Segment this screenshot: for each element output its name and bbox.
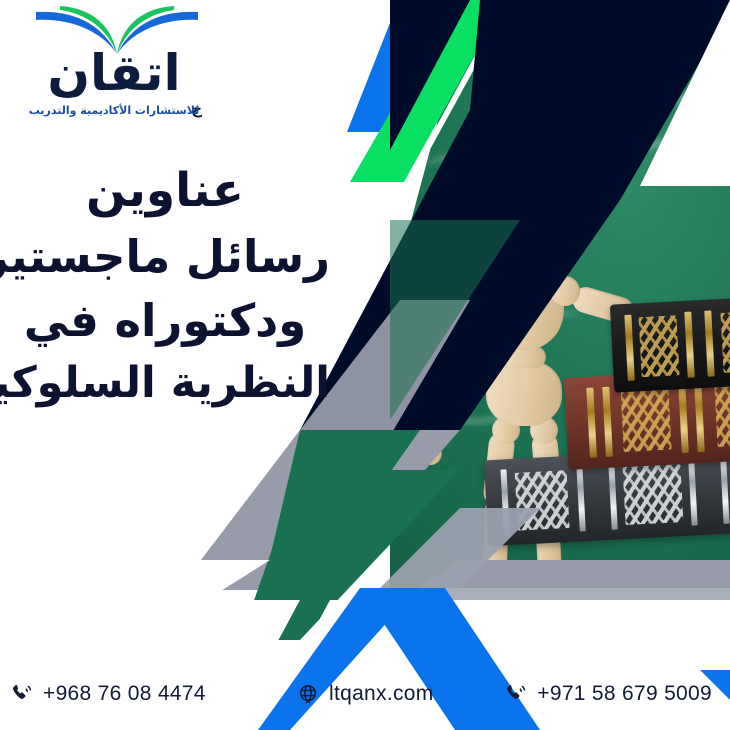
- contact-phone-left[interactable]: +968 76 08 4474: [10, 682, 206, 706]
- contact-website[interactable]: ltqanx.com: [296, 682, 434, 706]
- gray-diamond-left: [178, 430, 460, 590]
- globe-icon: [296, 682, 320, 706]
- contact-phone-left-text: +968 76 08 4474: [43, 682, 206, 706]
- headline-line-4: النظرية السلوكية: [0, 353, 330, 414]
- logo-wordmark: اتقان: [14, 48, 214, 98]
- contact-phone-right-text: +971 58 679 5009: [537, 682, 712, 706]
- phone-ring-icon: [504, 682, 528, 706]
- brand-logo[interactable]: اتقان ح للاستشارات الأكاديمية والتدريب: [14, 4, 214, 130]
- white-left-block-2: [0, 400, 180, 680]
- headline-line-1: عناوين: [0, 158, 330, 225]
- logo-subtitle: للاستشارات الأكاديمية والتدريب: [14, 104, 214, 117]
- headline-block: عناوين رسائل ماجستير ودكتوراه في النظرية…: [0, 158, 330, 414]
- contact-footer: +968 76 08 4474 ltqanx.com: [0, 668, 730, 730]
- headline-line-2: رسائل ماجستير: [0, 225, 330, 289]
- headline-line-3: ودكتوراه في: [0, 289, 330, 353]
- contact-website-text: ltqanx.com: [329, 682, 434, 706]
- phone-ring-icon: [10, 682, 34, 706]
- poster-canvas: اتقان ح للاستشارات الأكاديمية والتدريب ع…: [0, 0, 730, 730]
- navy-diagonal-band: [300, 0, 730, 430]
- contact-phone-right[interactable]: +971 58 679 5009: [504, 682, 712, 706]
